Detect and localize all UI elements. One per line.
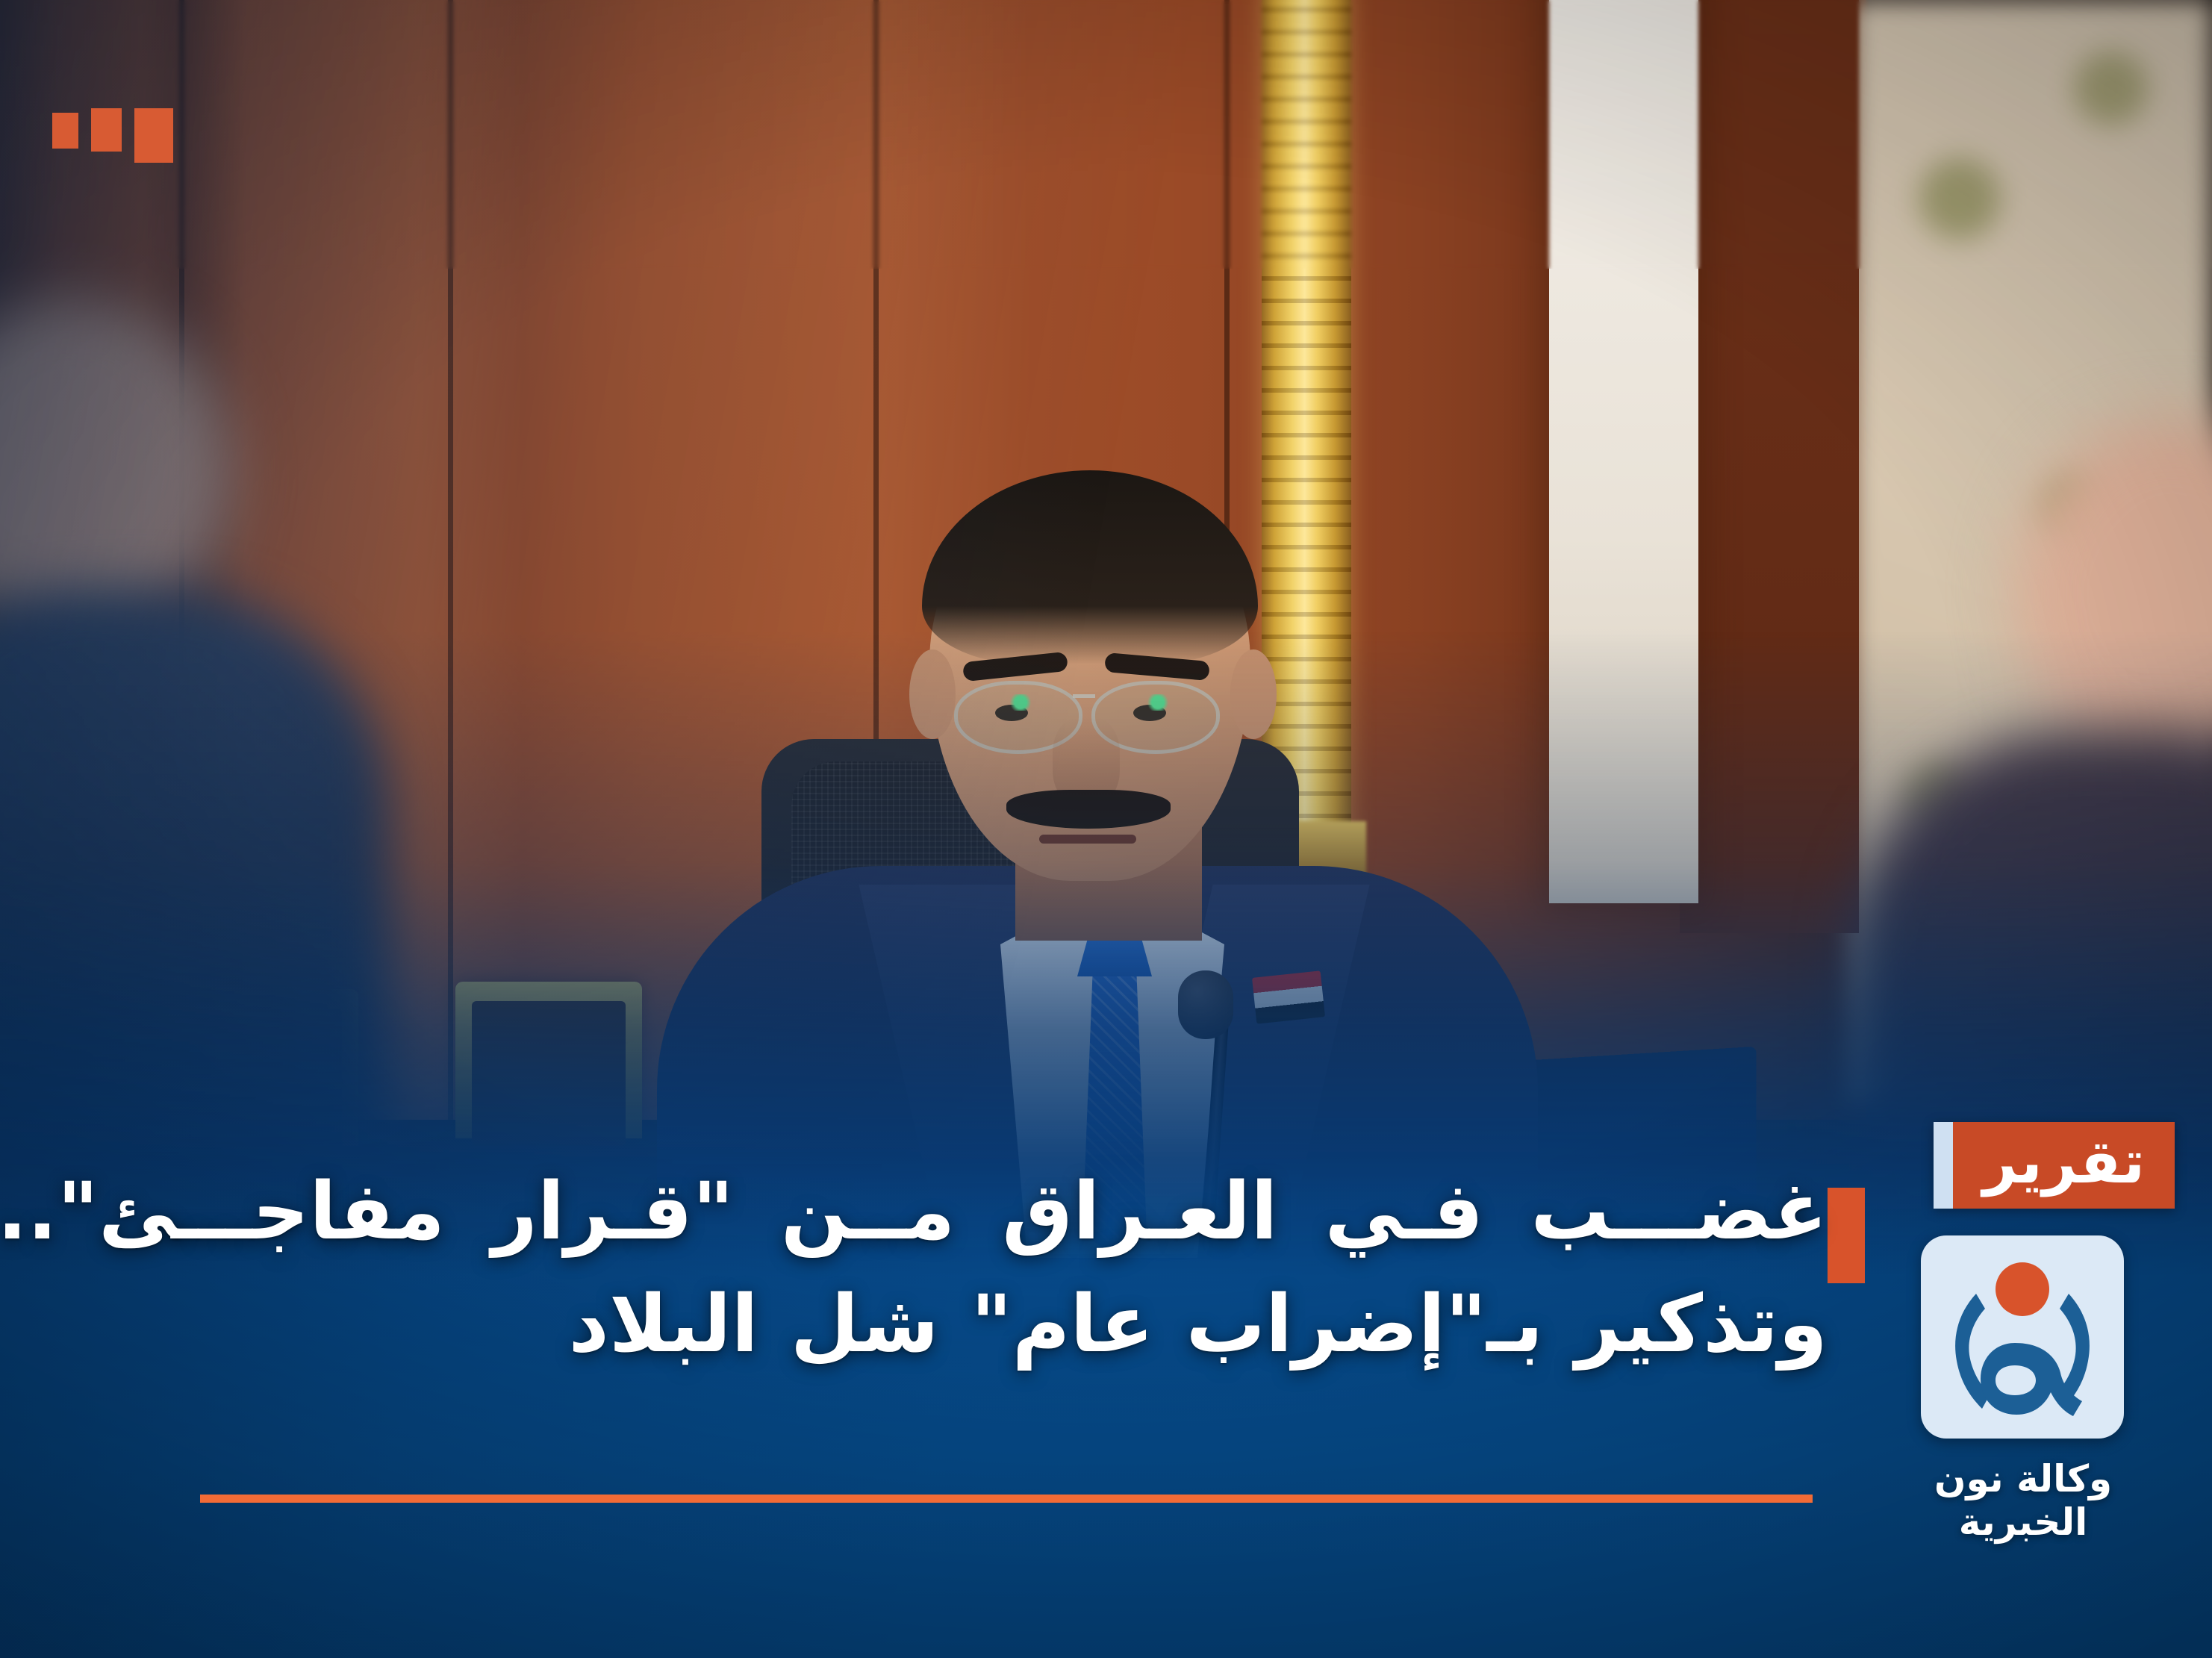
news-card: غضـــب فـي العـراق مــن "قـرار مفاجـــئ"…	[0, 0, 2212, 1658]
headline-accent-bar	[1828, 1188, 1865, 1283]
report-badge-edge	[1934, 1122, 1953, 1209]
headline-line-1: غضـــب فـي العـراق مــن "قـرار مفاجـــئ"…	[379, 1156, 1828, 1268]
noon-agency-logo	[1921, 1235, 2124, 1439]
bar-2	[91, 108, 122, 152]
report-badge-label: تقرير	[1983, 1132, 2145, 1192]
report-badge: تقرير	[1934, 1122, 2175, 1209]
report-badge-box: تقرير	[1953, 1122, 2175, 1209]
bar-3	[52, 113, 78, 149]
headline: غضـــب فـي العـراق مــن "قـرار مفاجـــئ"…	[379, 1156, 1828, 1380]
orange-divider	[200, 1495, 1813, 1503]
bar-1	[134, 108, 173, 163]
headline-line-2: وتذكير بـ"إضراب عام" شل البلاد	[379, 1268, 1828, 1381]
vignette-overlay	[0, 0, 2212, 1658]
agency-name: وكالة نون الخبرية	[1866, 1457, 2180, 1544]
three-bars-mark-icon	[52, 108, 173, 163]
noon-agency-figure-icon	[1921, 1235, 2124, 1439]
